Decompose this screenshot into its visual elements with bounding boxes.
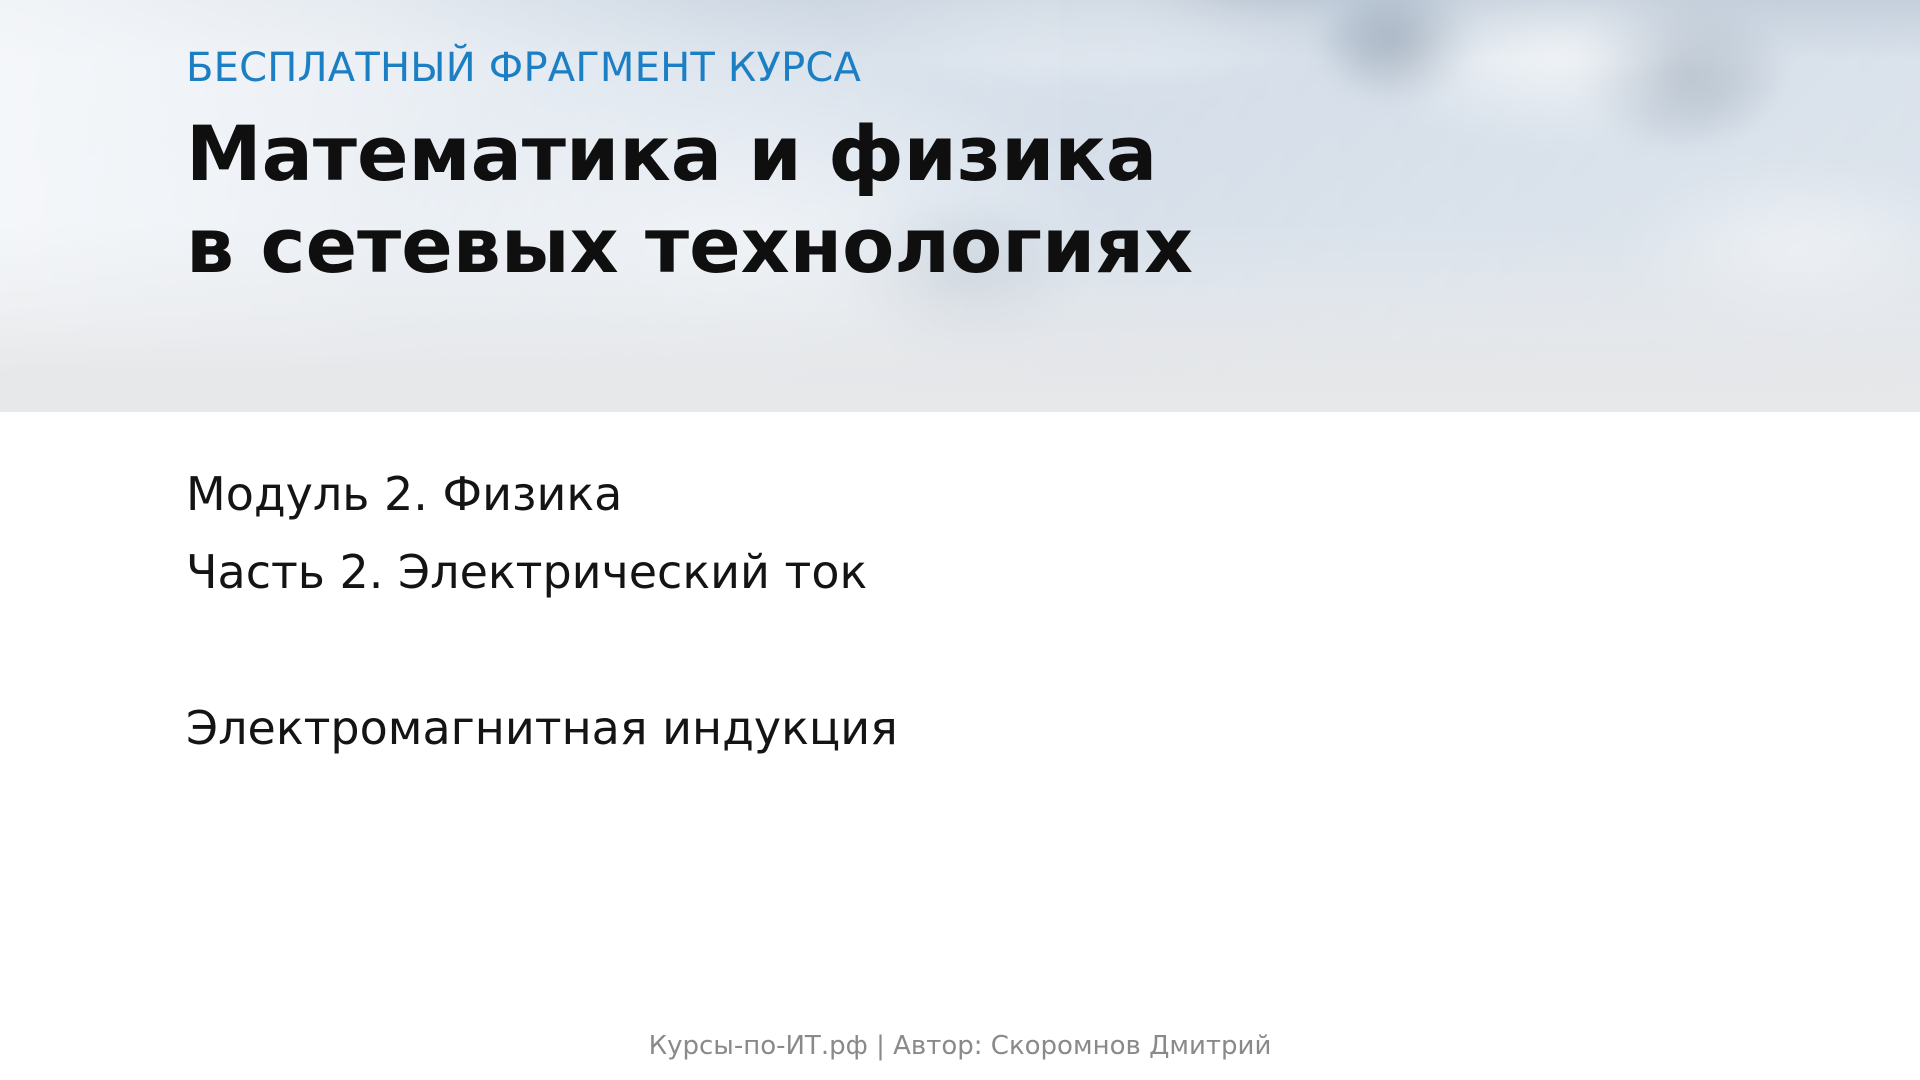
part-label: Часть 2. Электрический ток [186,533,898,611]
course-fragment-eyebrow: БЕСПЛАТНЫЙ ФРАГМЕНТ КУРСА [186,44,861,92]
slide-text-layer: БЕСПЛАТНЫЙ ФРАГМЕНТ КУРСА Математика и ф… [0,0,1920,1080]
presentation-slide: БЕСПЛАТНЫЙ ФРАГМЕНТ КУРСА Математика и ф… [0,0,1920,1080]
module-label: Модуль 2. Физика [186,455,898,533]
slide-subtitle-block: Модуль 2. Физика Часть 2. Электрический … [186,455,898,767]
topic-label: Электромагнитная индукция [186,689,898,767]
subtitle-spacer [186,611,898,689]
slide-title-line-2: в сетевых технологиях [186,200,1486,292]
slide-footer-credit: Курсы-по-ИТ.рф | Автор: Скоромнов Дмитри… [0,1030,1920,1062]
slide-title-line-1: Математика и физика [186,108,1486,200]
slide-title: Математика и физика в сетевых технология… [186,108,1486,292]
